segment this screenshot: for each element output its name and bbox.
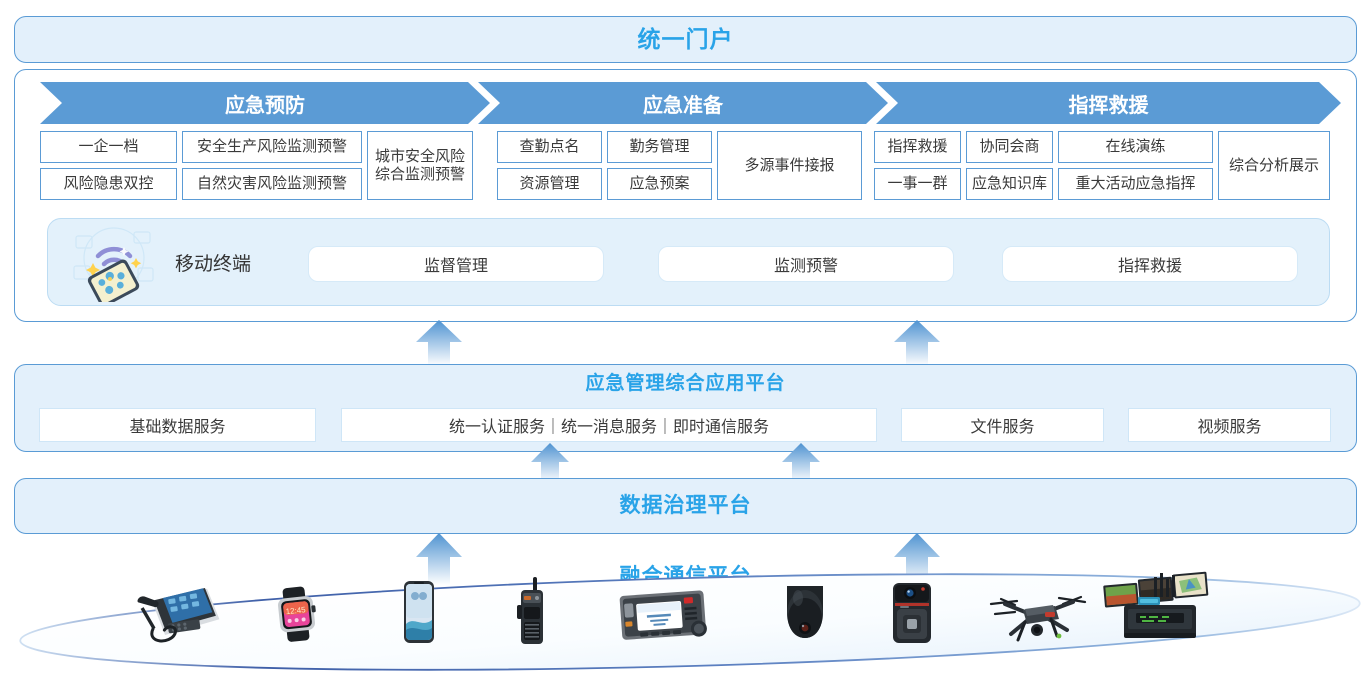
- cell-command-2[interactable]: 在线演练: [1058, 131, 1213, 163]
- data-platform-title: 数据治理平台: [15, 479, 1356, 533]
- smartwatch-icon: 12:45: [269, 586, 327, 642]
- service-box-2[interactable]: 文件服务: [901, 408, 1104, 442]
- cell-command-1[interactable]: 协同会商: [966, 131, 1053, 163]
- cell-prevention-tall-line2: 综合监测预警: [375, 166, 465, 184]
- cell-command-4[interactable]: 应急知识库: [966, 168, 1053, 200]
- up-arrow-left-1: [412, 320, 466, 366]
- cell-command-0[interactable]: 指挥救援: [874, 131, 961, 163]
- up-arrow-left-2: [528, 443, 572, 483]
- mobile-pill-2[interactable]: 指挥救援: [1002, 246, 1298, 282]
- cell-prevention-1[interactable]: 风险隐患双控: [40, 168, 177, 200]
- up-arrow-right-2: [779, 443, 823, 483]
- phase-banner-command[interactable]: 指挥救援: [876, 82, 1341, 124]
- mobile-terminal-icon: [66, 222, 162, 302]
- phase-label-prevention: 应急预防: [225, 89, 305, 118]
- body-camera-icon: [890, 582, 934, 644]
- mobile-pill-1[interactable]: 监测预警: [658, 246, 954, 282]
- app-platform-title: 应急管理综合应用平台: [15, 365, 1356, 401]
- portal-panel: 统一门户: [14, 16, 1357, 63]
- cell-command-tall[interactable]: 综合分析展示: [1218, 131, 1330, 200]
- service-box-3[interactable]: 视频服务: [1128, 408, 1331, 442]
- cell-preparation-1[interactable]: 勤务管理: [607, 131, 712, 163]
- dome-camera-icon: [774, 584, 836, 642]
- desk-phone-icon: [132, 581, 224, 643]
- cell-prevention-tall-line1: 城市安全风险: [375, 148, 465, 166]
- cell-prevention-3[interactable]: 自然灾害风险监测预警: [182, 168, 362, 200]
- mobile-pill-0[interactable]: 监督管理: [308, 246, 604, 282]
- phase-label-command: 指挥救援: [1069, 89, 1149, 118]
- cell-preparation-2[interactable]: 资源管理: [497, 168, 602, 200]
- walkie-talkie-icon: [515, 577, 549, 650]
- cell-prevention-0[interactable]: 一企一档: [40, 131, 177, 163]
- portal-title: 统一门户: [15, 17, 1356, 62]
- architecture-diagram: 统一门户 应急预防 应急准备 指挥救援 一企一档 风险隐患双控 安全生产风险监测…: [0, 0, 1371, 686]
- phase-label-preparation: 应急准备: [643, 89, 723, 118]
- cell-command-3[interactable]: 一事一群: [874, 168, 961, 200]
- smartphone-icon: [400, 580, 438, 644]
- phase-banner-prevention[interactable]: 应急预防: [40, 82, 490, 124]
- cell-prevention-tall[interactable]: 城市安全风险 综合监测预警: [367, 131, 473, 200]
- cell-command-5[interactable]: 重大活动应急指挥: [1058, 168, 1213, 200]
- cell-preparation-0[interactable]: 查勤点名: [497, 131, 602, 163]
- cell-preparation-tall[interactable]: 多源事件接报: [717, 131, 862, 200]
- mobile-terminal-label: 移动终端: [175, 245, 295, 279]
- up-arrow-right-1: [890, 320, 944, 366]
- cell-prevention-2[interactable]: 安全生产风险监测预警: [182, 131, 362, 163]
- phase-banner-preparation[interactable]: 应急准备: [478, 82, 888, 124]
- data-platform-panel: 数据治理平台: [14, 478, 1357, 534]
- drone-icon: [985, 592, 1091, 644]
- command-console-icon: [1102, 571, 1212, 643]
- cell-preparation-3[interactable]: 应急预案: [607, 168, 712, 200]
- vehicle-radio-icon: [617, 589, 713, 645]
- service-box-1[interactable]: 统一认证服务｜统一消息服务｜即时通信服务: [341, 408, 877, 442]
- service-box-0[interactable]: 基础数据服务: [39, 408, 316, 442]
